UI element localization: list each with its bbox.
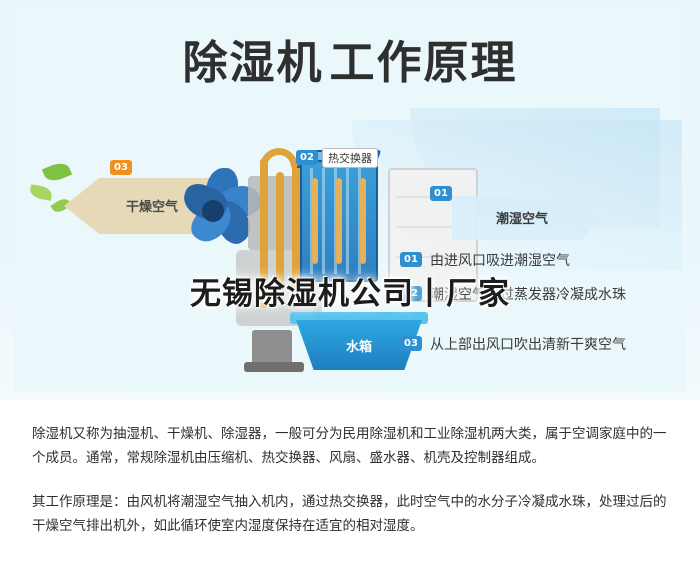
paragraph-principle: 其工作原理是：由风机将潮湿空气抽入机内，通过热交换器，此时空气中的水分子冷凝成水… xyxy=(32,490,672,538)
page-title: 除湿机工作原理 xyxy=(0,26,700,91)
evaporator-pipe xyxy=(312,178,318,264)
illustration-panel: 除湿机工作原理 干燥空气 03 xyxy=(0,0,700,400)
water-tank-label: 水箱 xyxy=(322,336,396,355)
title-part-1: 除湿机 xyxy=(182,36,323,89)
fan-hub xyxy=(202,200,224,222)
step-badge-03: 03 xyxy=(400,336,422,351)
machine-foot xyxy=(244,362,304,372)
evaporator-pipe xyxy=(336,178,342,264)
evaporator-block xyxy=(300,160,378,282)
step-badge-01: 01 xyxy=(400,252,422,267)
evaporator-fin xyxy=(346,168,349,274)
paragraph-definition: 除湿机又称为抽湿机、干燥机、除湿器，一般可分为民用除湿机和工业除湿机两大类，属于… xyxy=(32,422,672,470)
title-part-2: 工作原理 xyxy=(330,36,518,89)
moist-air-label: 潮湿空气 xyxy=(462,208,582,227)
step-text-03: 从上部出风口吹出清新干爽空气 xyxy=(430,334,626,354)
evaporator-fin xyxy=(322,168,325,274)
badge-03-diagram: 03 xyxy=(110,160,132,175)
evaporator-pipe xyxy=(360,178,366,264)
badge-02-diagram: 02 xyxy=(296,150,318,165)
badge-01-diagram: 01 xyxy=(430,186,452,201)
watermark-text: 无锡除湿机公司丨厂家 xyxy=(0,268,700,313)
body-text-section: 除湿机又称为抽湿机、干燥机、除湿器，一般可分为民用除湿机和工业除湿机两大类，属于… xyxy=(0,404,700,566)
step-text-01: 由进风口吸进潮湿空气 xyxy=(430,250,570,270)
page-root: 除湿机工作原理 干燥空气 03 xyxy=(0,0,700,566)
heat-exchanger-tag: 热交换器 xyxy=(322,148,378,168)
